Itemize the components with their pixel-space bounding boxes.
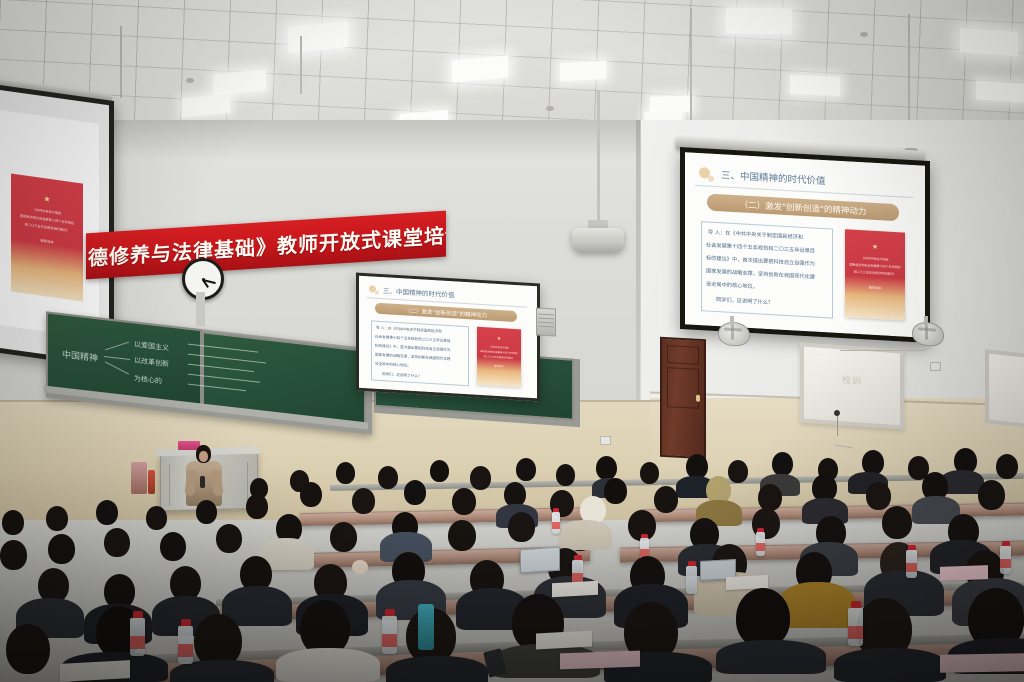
book-cover-line: 辅导读本 — [845, 283, 905, 291]
student-head — [6, 624, 50, 674]
slide-body-line: 设全局中的核心地位。 — [375, 362, 411, 369]
lecture-hall-photo: ★ 《中共中央关于制定 国民经济和社会发展第十四个五年规划 和二〇三五年远景目标… — [0, 0, 1024, 682]
student-head — [736, 588, 790, 648]
slide-body-line: 同学们，这说明了什么？ — [716, 296, 773, 306]
slide-body-line: 社会发展第十四个五年规划和二〇三五年远景目 — [375, 335, 450, 344]
student-head — [2, 510, 24, 535]
wall-outlet — [930, 362, 941, 371]
student-head — [430, 460, 449, 482]
ceiling-light-panel — [726, 7, 792, 34]
student-head — [378, 466, 398, 489]
student-shoulders — [558, 520, 612, 550]
projector-mount-rod — [597, 90, 600, 222]
student-head — [996, 454, 1018, 479]
student-audience — [0, 448, 1024, 682]
student-head — [470, 466, 491, 490]
slide-decor-dot — [375, 291, 379, 295]
student-head — [728, 460, 748, 483]
wall-whiteboard-far — [985, 349, 1024, 429]
book-emblem-icon: ★ — [497, 336, 501, 342]
clock-center-pin — [202, 278, 205, 281]
book-cover-line: 《中共中央关于制定 — [845, 255, 905, 262]
student-head-bun — [352, 560, 368, 574]
water-bottle — [1000, 546, 1011, 574]
slide-body-line: 导 入：在《中共中央关于制定国民经济和 — [376, 326, 442, 335]
student-head — [104, 528, 130, 557]
student-shoulders — [276, 648, 380, 682]
slide-section-title: 三、中国精神的时代价值 — [383, 285, 455, 299]
student-head — [330, 522, 357, 552]
water-bottle — [552, 512, 560, 534]
book-cover-line: 国民经济和社会发展第十四个五年规划 — [845, 262, 905, 269]
student-head — [596, 456, 617, 480]
student-head — [336, 462, 355, 484]
slide-book-cover-image: ★ 《中共中央关于制定 国民经济和社会发展第十四个五年规划 和二〇三五年远景目标… — [845, 229, 905, 320]
center-projection-screen[interactable]: 三、中国精神的时代价值 （二）激发"创新创造"的精神动力 导 入：在《中共中央关… — [356, 273, 540, 402]
left-slide-surface: ★ 《中共中央关于制定 国民经济和社会发展第十四个五年规划 和二〇三五年远景目标… — [0, 109, 99, 339]
ceiling-hanger-rod — [120, 26, 122, 98]
book-cover-line: 和二〇三五年远景目标的建议》 — [845, 269, 905, 276]
water-bottle — [178, 626, 193, 664]
slide-body-line: 国家发展的战略支撑，坚持创新在我国现代化建 — [375, 353, 450, 362]
water-bottle — [848, 608, 863, 646]
book-emblem-icon: ★ — [872, 243, 878, 251]
slide-body-line: 设全局中的核心地位。 — [706, 280, 758, 290]
slide-body-line: 标的建议》中，首次提出要把科技自立自强作为 — [706, 254, 815, 267]
book-cover-line: 辅导读本 — [477, 363, 521, 370]
water-bottle — [756, 532, 765, 556]
student-head — [448, 520, 476, 551]
wall-whiteboard: 校训 — [800, 342, 904, 429]
student-shoulders — [834, 648, 946, 682]
laptop[interactable] — [520, 547, 560, 574]
student-head — [160, 532, 186, 561]
whiteboard-logo-text: 校训 — [842, 373, 862, 387]
pink-folder — [940, 653, 1024, 672]
slide-decor-dot — [708, 176, 714, 182]
student-head — [404, 480, 426, 505]
slide-body-box: 导 入：在《中共中央关于制定国民经济和 社会发展第十四个五年规划和二〇三五年远景… — [371, 320, 469, 386]
smoke-detector — [546, 106, 554, 111]
student-shoulders — [716, 640, 826, 674]
wooden-door[interactable] — [660, 337, 706, 459]
student-head — [604, 478, 627, 504]
slide-section-title: 三、中国精神的时代价值 — [721, 167, 826, 187]
student-head — [196, 500, 217, 524]
slide-body-line: 同学们，这说明了什么？ — [382, 372, 422, 379]
thermos-bottle — [418, 604, 434, 650]
slide-book-cover-image: ★ 《中共中央关于制定 国民经济和社会发展第十四个五年规划 和二〇三五年远景目标… — [477, 327, 521, 388]
right-projection-screen[interactable]: 三、中国精神的时代价值 （二）激发"创新创造"的精神动力 导 入：在《中共中央关… — [680, 147, 930, 343]
water-bottle — [906, 550, 917, 578]
student-head — [772, 452, 793, 476]
student-head — [978, 480, 1005, 510]
student-head — [758, 484, 782, 511]
water-bottle — [382, 616, 397, 654]
right-slide-surface: 三、中国精神的时代价值 （二）激发"创新创造"的精神动力 导 入：在《中共中央关… — [685, 152, 925, 337]
student-head — [882, 506, 912, 539]
slide-subtitle-band: （二）激发"创新创造"的精神动力 — [707, 194, 899, 222]
notebook — [536, 631, 592, 650]
slide-subtitle-text: （二）激发"创新创造"的精神动力 — [405, 306, 487, 319]
ceiling-light-panel — [790, 75, 840, 96]
student-head — [654, 486, 678, 513]
ceiling-light-panel — [976, 80, 1024, 102]
student-head — [96, 500, 118, 525]
water-bottle — [686, 566, 697, 594]
center-slide-surface: 三、中国精神的时代价值 （二）激发"创新创造"的精神动力 导 入：在《中共中央关… — [359, 276, 537, 399]
fan-mount-arm — [924, 316, 928, 325]
slide-body-box: 导 入：在《中共中央关于制定国民经济和 社会发展第十四个五年规划和二〇三五年远景… — [701, 221, 833, 318]
student-head — [508, 512, 535, 542]
smoke-detector — [186, 78, 194, 83]
ceiling-projector — [572, 228, 624, 252]
notebook — [552, 581, 598, 597]
student-head — [516, 458, 536, 481]
ceiling-light-panel — [650, 95, 692, 112]
student-head — [300, 482, 322, 507]
door-panel — [667, 345, 699, 365]
slide-body-line: 国家发展的战略支撑，坚持创新在我国现代化建 — [706, 267, 815, 280]
student-head — [556, 464, 575, 486]
pink-folder — [940, 565, 988, 581]
wall-speaker — [536, 307, 556, 336]
pink-folder — [560, 651, 640, 670]
ceiling-hanger-rod — [300, 36, 302, 94]
slide-body-line: 社会发展第十四个五年规划和二〇三五年远景目 — [706, 241, 815, 254]
wall-pillar — [196, 292, 205, 326]
ceiling-light-panel — [560, 61, 606, 81]
slide-body-line: 导 入：在《中共中央关于制定国民经济和 — [708, 229, 803, 241]
student-head — [246, 494, 268, 519]
student-head — [46, 506, 68, 531]
smoke-detector — [860, 32, 868, 37]
student-head — [146, 506, 167, 530]
water-bottle — [130, 618, 145, 656]
student-shoulders — [386, 656, 488, 682]
notebook — [60, 660, 130, 682]
wall-cable — [840, 336, 936, 351]
microphone-head — [834, 410, 840, 416]
slide-body-line: 标的建议》中，首次提出要把科技自立自强作为 — [375, 344, 450, 353]
student-head — [0, 540, 27, 570]
wall-outlet — [600, 436, 611, 445]
book-cover-line: 辅导读本 — [11, 234, 83, 249]
student-head — [866, 482, 891, 510]
student-head — [48, 534, 75, 564]
fan-mount-arm — [730, 316, 734, 325]
student-head — [352, 488, 375, 514]
door-panel — [667, 367, 699, 409]
book-emblem-icon: ★ — [43, 194, 50, 204]
student-head — [452, 488, 476, 515]
ceiling-light-panel — [960, 28, 1018, 56]
student-head — [216, 524, 242, 553]
microphone-stand — [837, 414, 838, 436]
slide-subtitle-text: （二）激发"创新创造"的精神动力 — [740, 198, 867, 217]
door-knob[interactable] — [696, 395, 700, 402]
slide-book-cover-image: ★ 《中共中央关于制定 国民经济和社会发展第十四个五年规划 和二〇三五年远景目标… — [11, 174, 83, 302]
student-head — [640, 462, 659, 484]
